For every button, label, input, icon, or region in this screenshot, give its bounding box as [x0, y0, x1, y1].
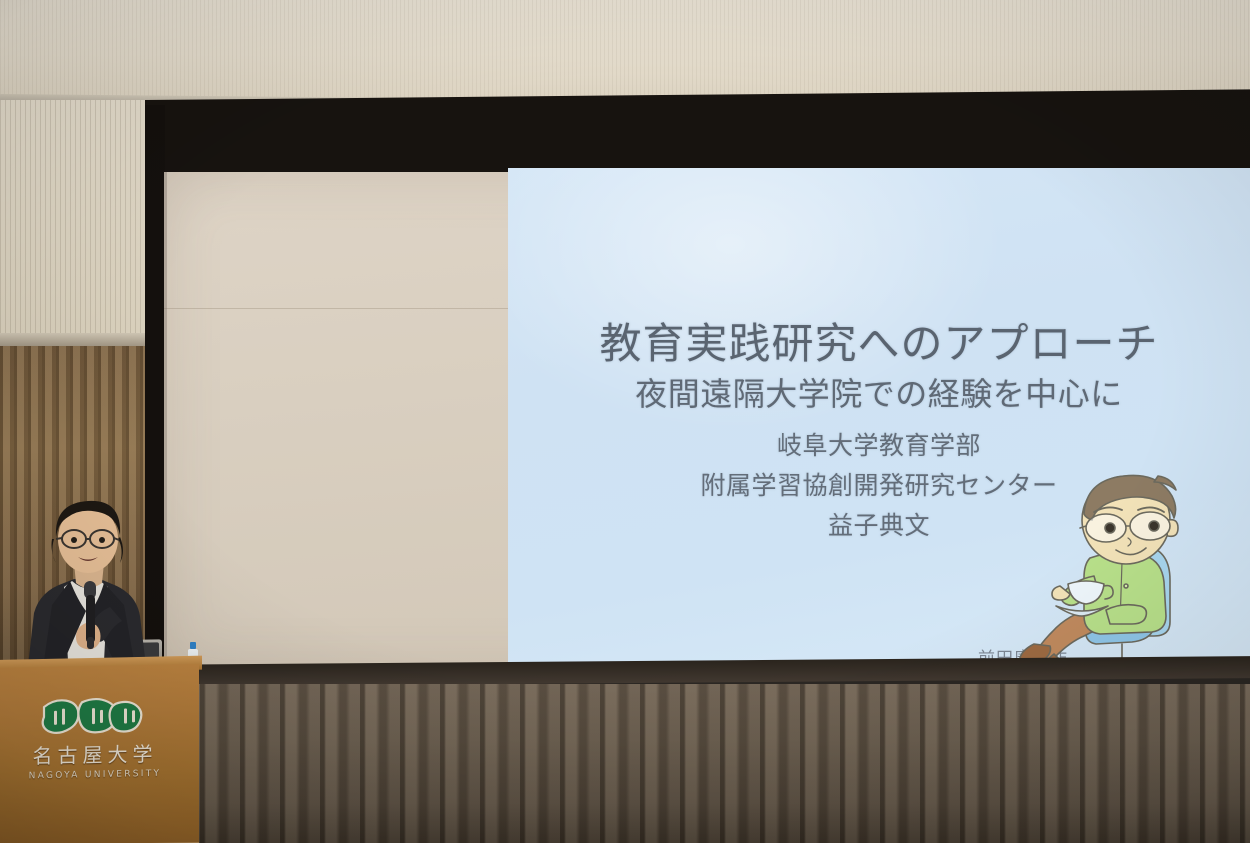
lecture-hall-scene: 教育実践研究へのアプローチ 夜間遠隔大学院での経験を中心に 岐阜大学教育学部 附…: [0, 0, 1250, 843]
podium-branding: 名古屋大学 NAGOYA UNIVERSITY: [10, 692, 180, 825]
screen-soffit-band: [145, 89, 1250, 180]
slide-subtitle: 夜間遠隔大学院での経験を中心に: [508, 378, 1250, 410]
ceiling-panel: [0, 0, 1250, 98]
podium: 名古屋大学 NAGOYA UNIVERSITY: [0, 664, 199, 843]
wall-ledge: [0, 333, 152, 347]
nagoya-university-crest-icon: [36, 693, 154, 737]
projected-slide: 教育実践研究へのアプローチ 夜間遠隔大学院での経験を中心に 岐阜大学教育学部 附…: [508, 168, 1250, 674]
slide-title: 教育実践研究へのアプローチ: [508, 323, 1250, 365]
presenter: [8, 495, 178, 680]
seated-man-with-teacup-illustration: [998, 458, 1203, 673]
podium-university-name-en: NAGOYA UNIVERSITY: [10, 768, 180, 781]
upper-left-wall-panel: [0, 100, 150, 345]
podium-university-name-jp: 名古屋大学: [10, 742, 180, 767]
projection-screen: 教育実践研究へのアプローチ 夜間遠隔大学院での経験を中心に 岐阜大学教育学部 附…: [164, 172, 1250, 674]
bottle-cap: [190, 642, 196, 649]
